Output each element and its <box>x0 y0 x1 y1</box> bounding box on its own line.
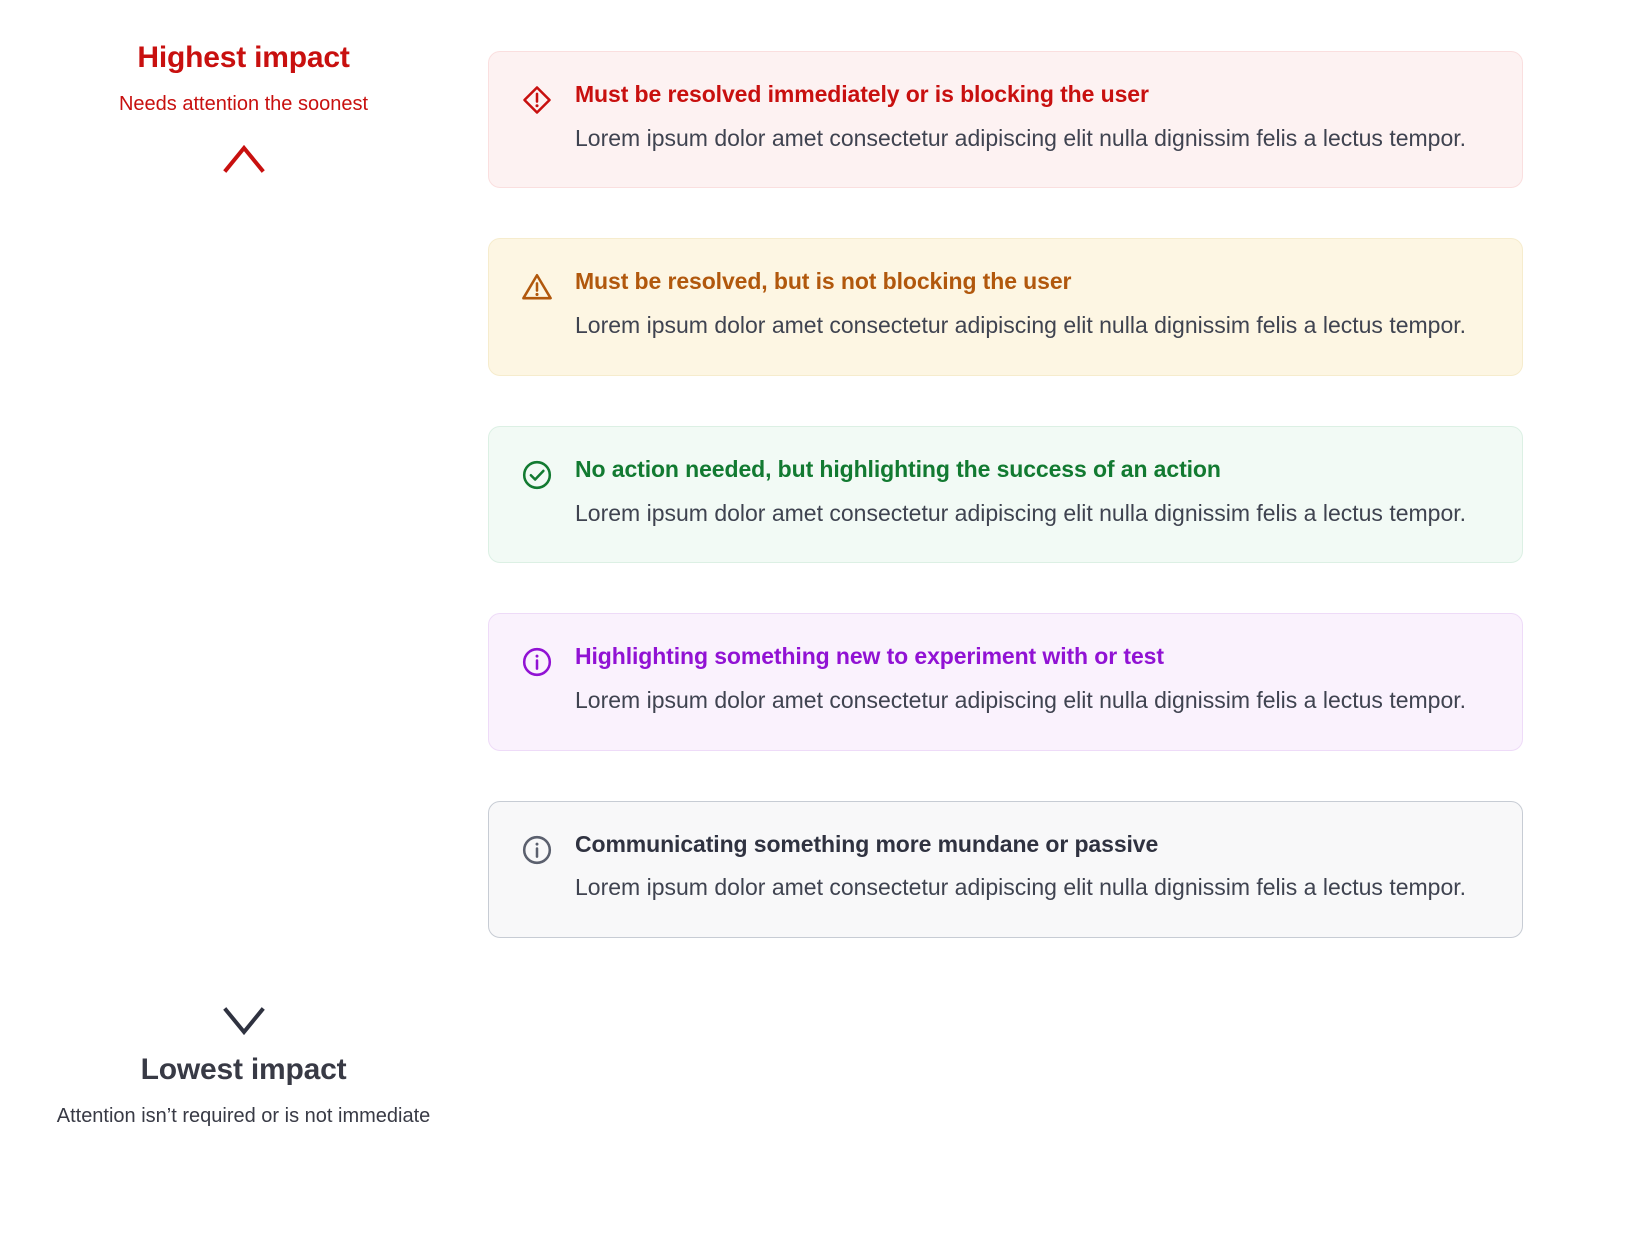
alert-card-title: Must be resolved immediately or is block… <box>575 80 1490 109</box>
alert-card-warning[interactable]: Must be resolved, but is not blocking th… <box>488 238 1523 375</box>
alert-card-info[interactable]: Highlighting something new to experiment… <box>488 613 1523 750</box>
highest-impact-subtitle: Needs attention the soonest <box>0 92 487 116</box>
alert-card-title: No action needed, but highlighting the s… <box>575 455 1490 484</box>
info-circle-icon <box>521 834 553 866</box>
highest-impact-block: Highest impact Needs attention the soone… <box>0 40 487 116</box>
alert-card-description: Lorem ipsum dolor amet consectetur adipi… <box>575 681 1470 720</box>
alert-card-title: Must be resolved, but is not blocking th… <box>575 267 1490 296</box>
diamond-exclamation-icon <box>521 84 553 116</box>
alert-card-critical[interactable]: Must be resolved immediately or is block… <box>488 51 1523 188</box>
alert-card-body: Must be resolved, but is not blocking th… <box>575 267 1490 344</box>
alert-card-list: Must be resolved immediately or is block… <box>488 51 1523 938</box>
alert-card-description: Lorem ipsum dolor amet consectetur adipi… <box>575 494 1470 533</box>
triangle-exclamation-icon <box>521 271 553 303</box>
alert-card-title: Highlighting something new to experiment… <box>575 642 1490 671</box>
alert-card-title: Communicating something more mundane or … <box>575 830 1490 859</box>
gradient-arrow-icon <box>214 140 274 1040</box>
alert-card-success[interactable]: No action needed, but highlighting the s… <box>488 426 1523 563</box>
impact-scale-page: Highest impact Needs attention the soone… <box>0 0 1652 1248</box>
lowest-impact-title: Lowest impact <box>0 1052 487 1088</box>
alert-card-description: Lorem ipsum dolor amet consectetur adipi… <box>575 306 1470 345</box>
lowest-impact-subtitle: Attention isn’t required or is not immed… <box>0 1104 487 1128</box>
impact-gradient-arrow <box>0 140 487 1040</box>
alert-card-neutral[interactable]: Communicating something more mundane or … <box>488 801 1523 938</box>
alert-card-body: Must be resolved immediately or is block… <box>575 80 1490 157</box>
lowest-impact-block: Lowest impact Attention isn’t required o… <box>0 1052 487 1128</box>
check-circle-icon <box>521 459 553 491</box>
alert-card-body: Communicating something more mundane or … <box>575 830 1490 907</box>
alert-card-body: Highlighting something new to experiment… <box>575 642 1490 719</box>
highest-impact-title: Highest impact <box>0 40 487 76</box>
impact-scale: Highest impact Needs attention the soone… <box>0 0 487 1248</box>
info-circle-icon <box>521 646 553 678</box>
alert-card-description: Lorem ipsum dolor amet consectetur adipi… <box>575 868 1470 907</box>
alert-card-description: Lorem ipsum dolor amet consectetur adipi… <box>575 119 1470 158</box>
alert-card-body: No action needed, but highlighting the s… <box>575 455 1490 532</box>
